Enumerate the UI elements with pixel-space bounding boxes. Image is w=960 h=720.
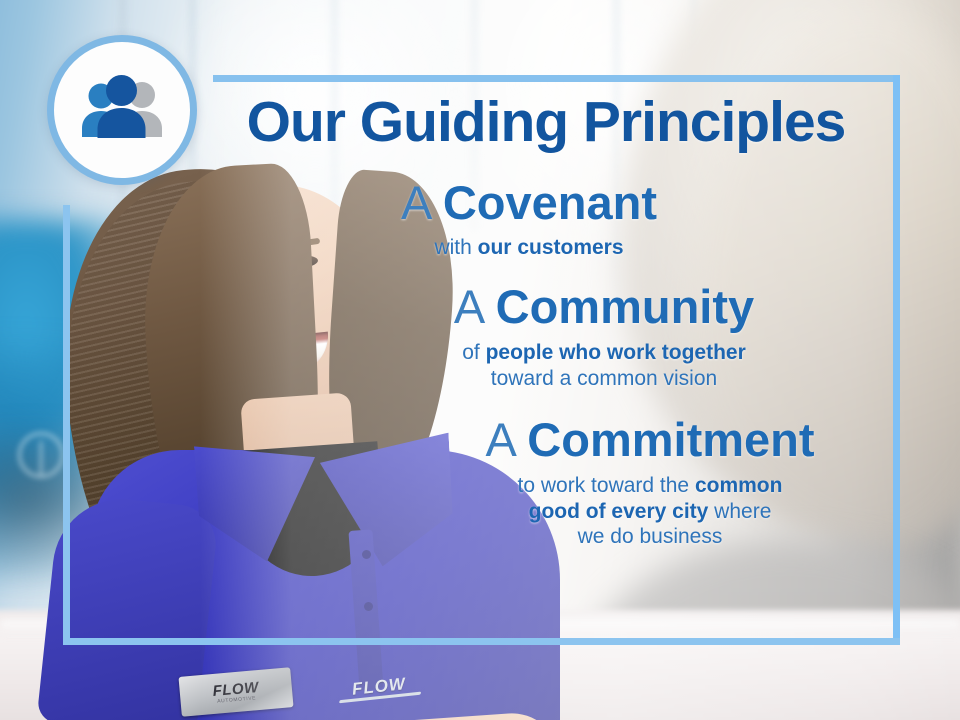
subtext-lead: of	[462, 341, 485, 364]
subtext-line: to work toward the common	[420, 473, 880, 499]
page-title: Our Guiding Principles	[216, 94, 876, 151]
subtext-emphasis: common	[695, 474, 783, 497]
principle-covenant: A Covenant with our customers	[250, 178, 880, 260]
principle-article: A	[401, 176, 430, 229]
principle-commitment: A Commitment to work toward the common g…	[250, 415, 880, 550]
principle-word: Covenant	[443, 176, 657, 229]
principle-article: A	[454, 280, 483, 333]
subtext-line: toward a common vision	[328, 366, 880, 392]
subtext-lead: with	[434, 236, 477, 259]
subtext-emphasis: our customers	[478, 236, 624, 259]
principle-heading: A Commitment	[420, 415, 880, 465]
principle-subtext: to work toward the common good of every …	[420, 473, 880, 550]
principle-heading: A Covenant	[250, 178, 808, 228]
guiding-principles-graphic: FLOW AUTOMOTIVE FLOW	[0, 0, 960, 720]
subtext-tail: where	[708, 500, 771, 523]
subtext-line: we do business	[420, 524, 880, 550]
principle-community: A Community of people who work together …	[250, 282, 880, 391]
principle-subtext: of people who work together toward a com…	[328, 340, 880, 391]
subtext-line: good of every city where	[420, 499, 880, 525]
people-badge	[47, 35, 197, 185]
principle-word: Commitment	[527, 413, 814, 466]
subtext-line: of people who work together	[328, 340, 880, 366]
group-of-people-icon	[76, 75, 168, 145]
principle-word: Community	[496, 280, 755, 333]
shirt-button	[364, 602, 373, 611]
principle-subtext: with our customers	[250, 235, 808, 261]
subtext-emphasis: people who work together	[486, 341, 746, 364]
principle-heading: A Community	[328, 282, 880, 332]
subtext-lead: to work toward the	[518, 474, 695, 497]
principle-article: A	[485, 413, 514, 466]
subtext-emphasis: good of every city	[529, 500, 709, 523]
principles-list: A Covenant with our customers A Communit…	[250, 178, 880, 556]
